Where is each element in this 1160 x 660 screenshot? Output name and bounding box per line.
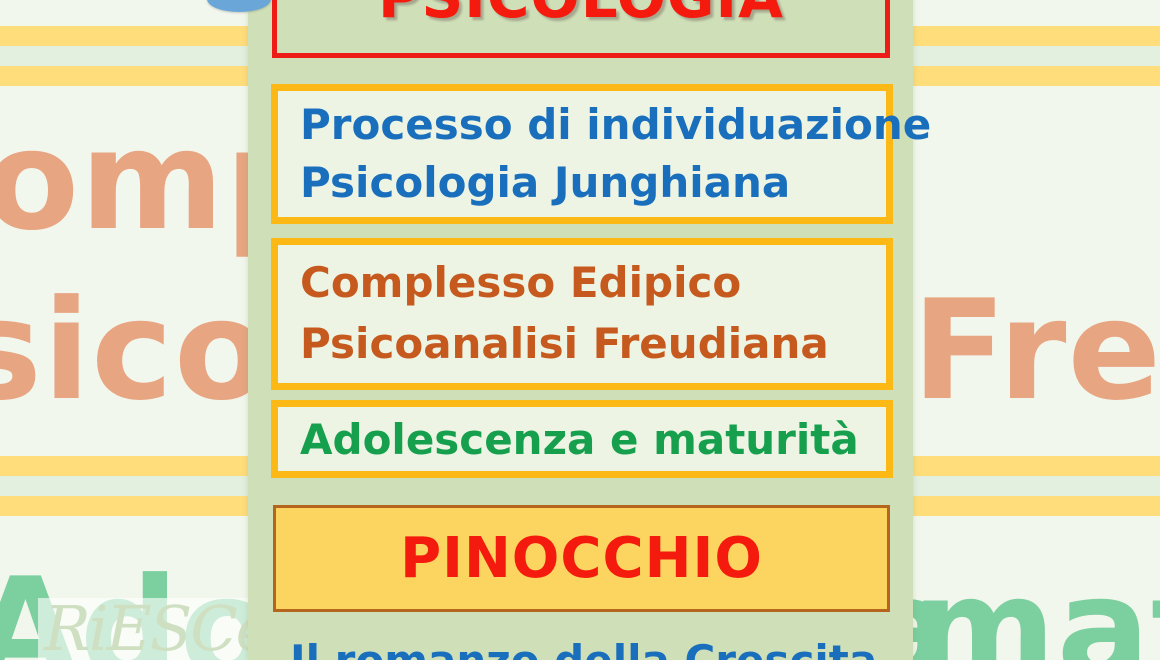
- clipped-subtitle-text: Il romanzo della Crescita e: [290, 636, 890, 660]
- topic-box-individuazione[interactable]: Processo di individuazione Psicologia Ju…: [271, 84, 893, 224]
- slide-canvas: Complesso Psicoanalisi Freudiana Adolesc…: [0, 0, 1160, 660]
- footer-box-pinocchio[interactable]: PINOCCHIO: [273, 505, 890, 612]
- footer-text: PINOCCHIO: [400, 526, 763, 591]
- background-ghost-word-freudiana: Freudiana: [912, 282, 1160, 420]
- topic-line: Psicoanalisi Freudiana: [300, 314, 864, 375]
- topic-box-adolescenza[interactable]: Adolescenza e maturità: [271, 400, 893, 478]
- topic-line: Processo di individuazione: [300, 96, 864, 154]
- title-text: PSICOLOGIA: [378, 0, 784, 31]
- background-ghost-word-maturita: maturità: [912, 560, 1160, 660]
- topic-line: Complesso Edipico: [300, 253, 864, 314]
- title-box: PSICOLOGIA: [272, 0, 890, 58]
- watermark-label: RiESCe: [44, 598, 270, 660]
- topic-line: Psicologia Junghiana: [300, 154, 864, 212]
- topic-line: Adolescenza e maturità: [300, 415, 864, 464]
- topic-box-edipico[interactable]: Complesso Edipico Psicoanalisi Freudiana: [271, 238, 893, 390]
